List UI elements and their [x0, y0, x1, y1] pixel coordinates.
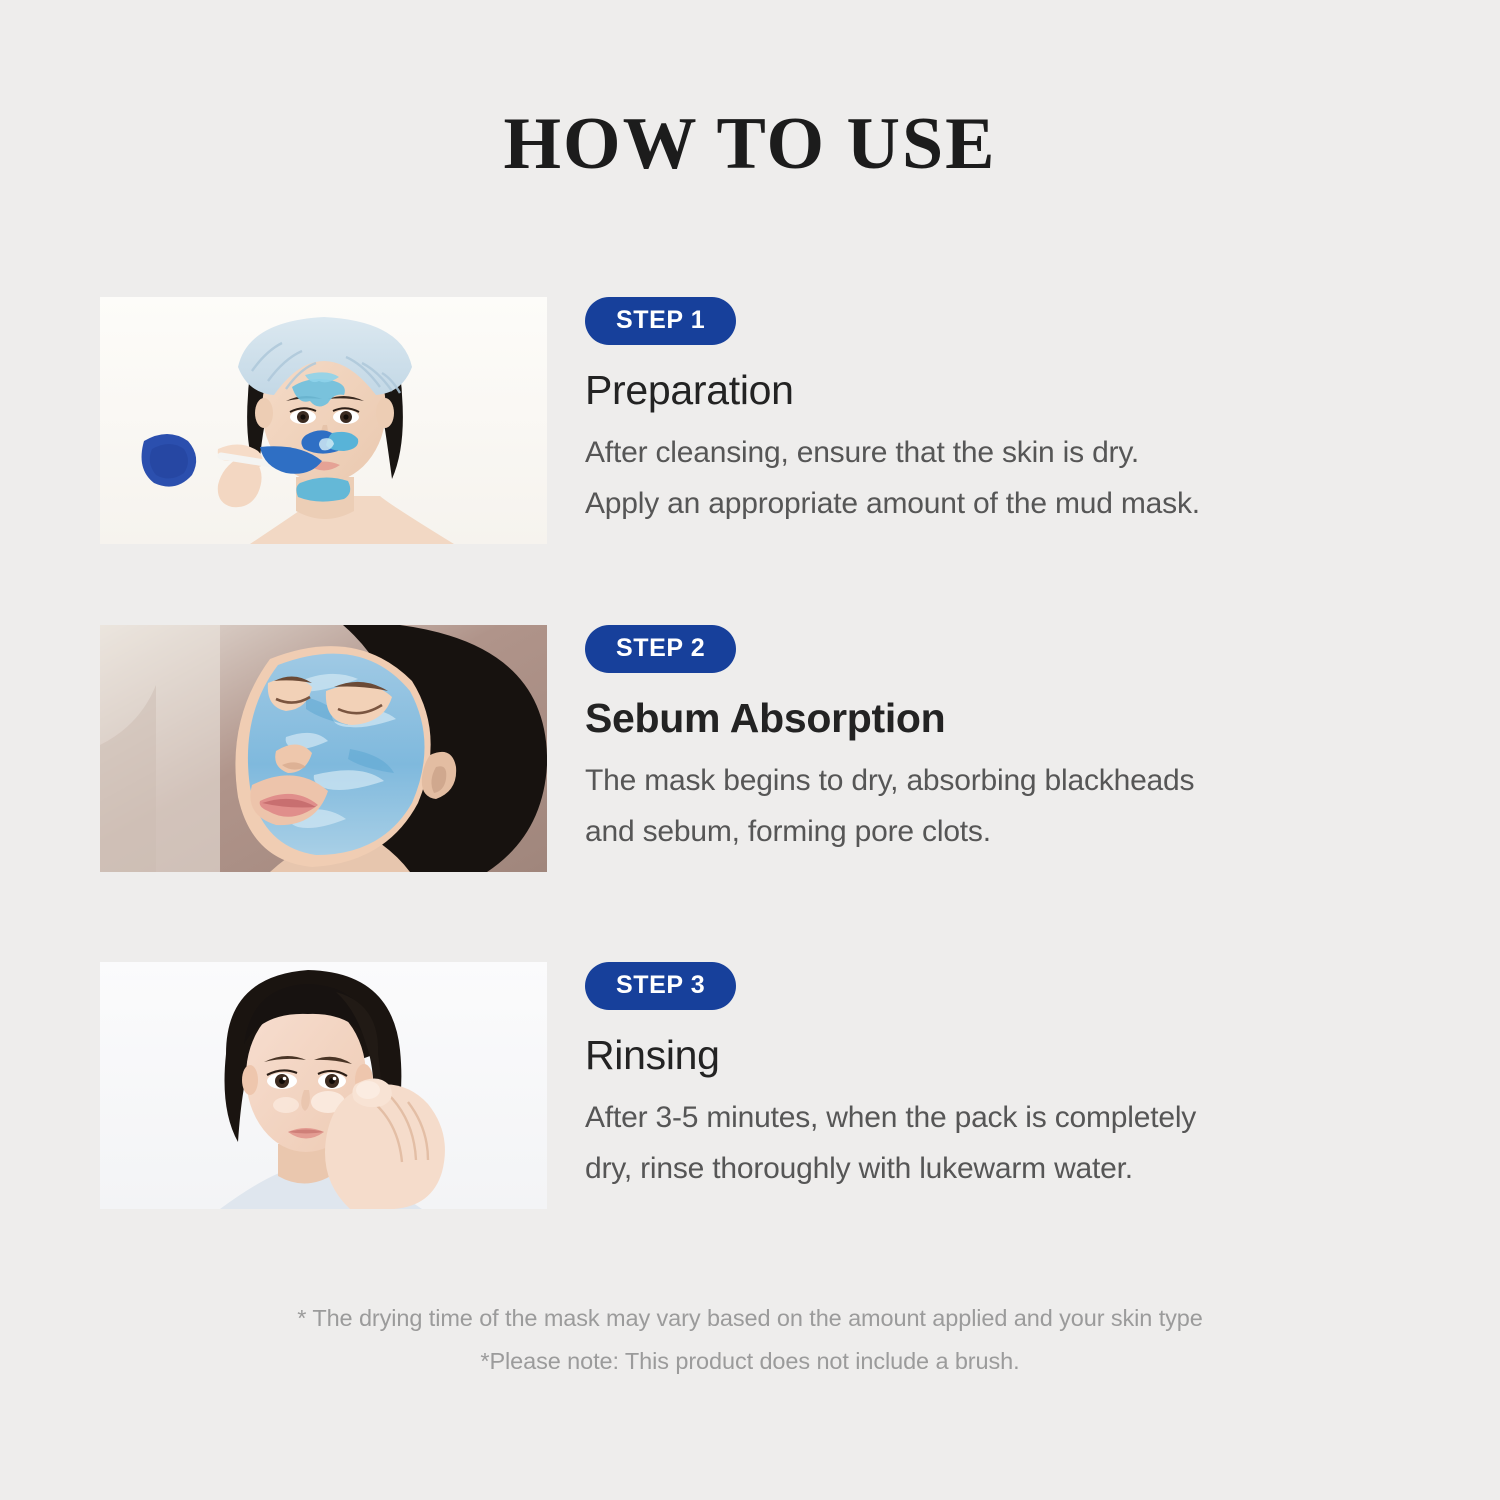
step-row-1: STEP 1 Preparation After cleansing, ensu…: [100, 297, 1410, 545]
step-2-body-line-1: The mask begins to dry, absorbing blackh…: [585, 756, 1400, 806]
page-title: HOW TO USE: [0, 104, 1500, 185]
footnotes: * The drying time of the mask may vary b…: [0, 1297, 1500, 1384]
step-1-body: After cleansing, ensure that the skin is…: [585, 428, 1400, 529]
step-2-badge: STEP 2: [585, 625, 736, 673]
step-1-title: Preparation: [585, 367, 1410, 414]
footnote-no-brush: *Please note: This product does not incl…: [0, 1340, 1500, 1383]
how-to-use-page: HOW TO USE: [0, 0, 1500, 1500]
step-1-photo: [100, 297, 547, 544]
step-row-2: STEP 2 Sebum Absorption The mask begins …: [100, 625, 1410, 873]
step-3-photo: [100, 962, 547, 1209]
step-2-body-line-2: and sebum, forming pore clots.: [585, 807, 1400, 857]
step-2-title: Sebum Absorption: [585, 695, 1410, 742]
step-2-text: STEP 2 Sebum Absorption The mask begins …: [585, 625, 1410, 857]
step-1-badge: STEP 1: [585, 297, 736, 345]
step-3-body: After 3-5 minutes, when the pack is comp…: [585, 1093, 1400, 1194]
step-3-title: Rinsing: [585, 1032, 1410, 1079]
step-3-badge: STEP 3: [585, 962, 736, 1010]
step-1-body-line-2: Apply an appropriate amount of the mud m…: [585, 479, 1400, 529]
step-2-photo: [100, 625, 547, 872]
step-1-body-line-1: After cleansing, ensure that the skin is…: [585, 428, 1400, 478]
step-3-text: STEP 3 Rinsing After 3-5 minutes, when t…: [585, 962, 1410, 1194]
step-3-body-line-2: dry, rinse thoroughly with lukewarm wate…: [585, 1144, 1400, 1194]
step-row-3: STEP 3 Rinsing After 3-5 minutes, when t…: [100, 962, 1410, 1210]
step-1-text: STEP 1 Preparation After cleansing, ensu…: [585, 297, 1410, 529]
step-3-body-line-1: After 3-5 minutes, when the pack is comp…: [585, 1093, 1400, 1143]
footnote-drying-time: * The drying time of the mask may vary b…: [0, 1297, 1500, 1340]
step-2-body: The mask begins to dry, absorbing blackh…: [585, 756, 1400, 857]
